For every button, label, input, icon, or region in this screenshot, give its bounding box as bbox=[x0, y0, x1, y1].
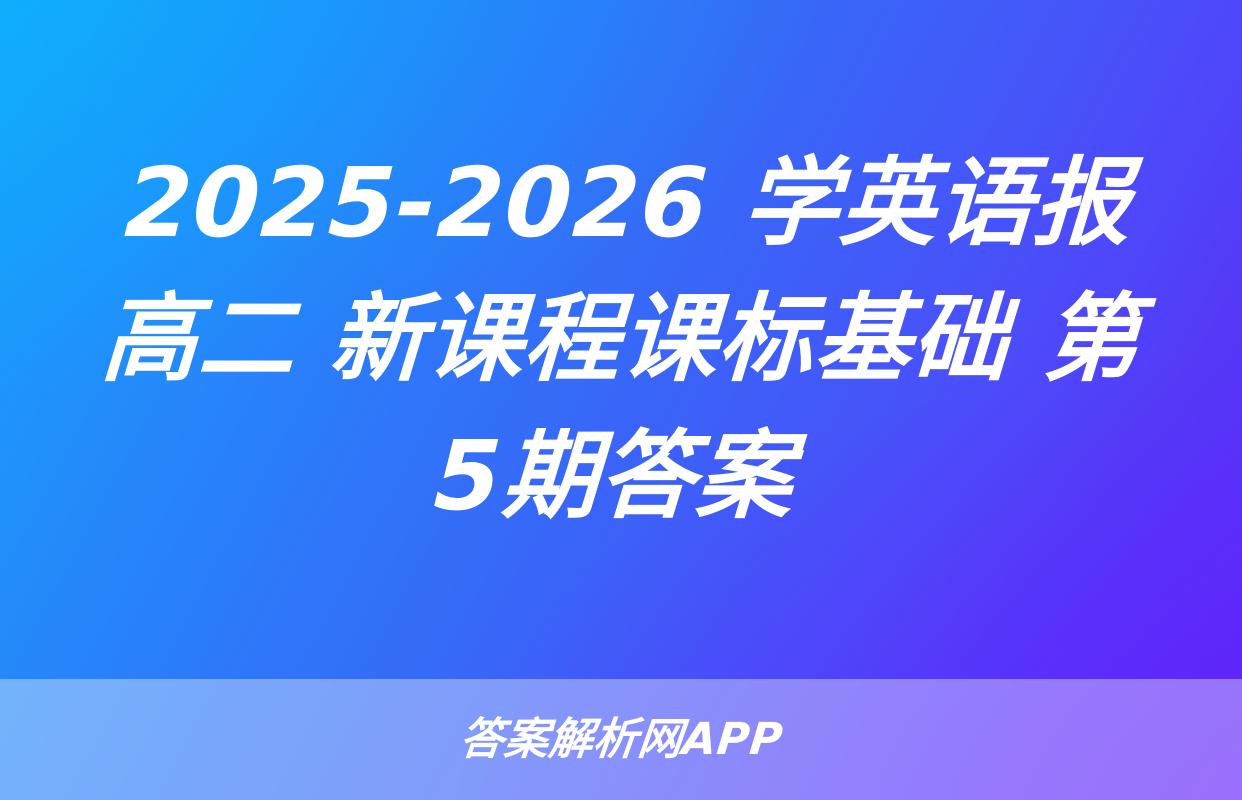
page-title: 2025-2026 学英语报 高二 新课程课标基础 第5期答案 bbox=[61, 135, 1180, 544]
footer-brand-band: 答案解析网APP bbox=[0, 679, 1242, 800]
app-brand-label: 答案解析网APP bbox=[457, 718, 784, 762]
headline-container: 2025-2026 学英语报 高二 新课程课标基础 第5期答案 bbox=[0, 0, 1242, 679]
poster-canvas: 2025-2026 学英语报 高二 新课程课标基础 第5期答案 答案解析网APP bbox=[0, 0, 1242, 800]
